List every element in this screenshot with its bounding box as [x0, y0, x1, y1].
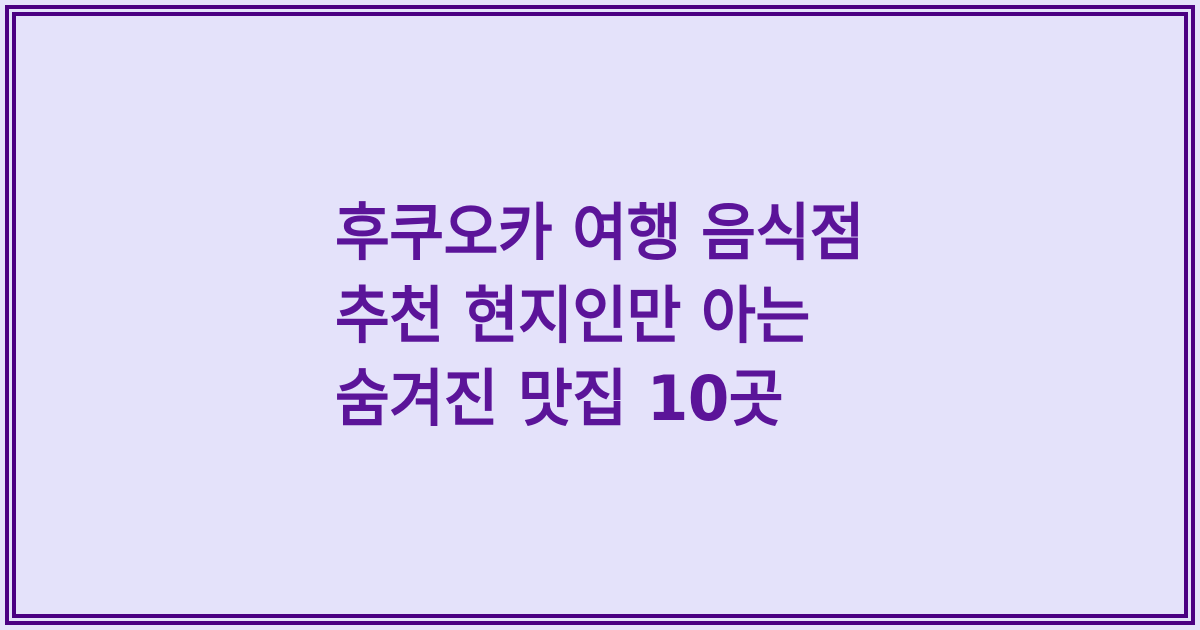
page-title: 후쿠오카 여행 음식점 추천 현지인만 아는 숨겨진 맛집 10곳	[336, 191, 865, 440]
thumbnail-card: 후쿠오카 여행 음식점 추천 현지인만 아는 숨겨진 맛집 10곳	[0, 0, 1200, 630]
title-block: 후쿠오카 여행 음식점 추천 현지인만 아는 숨겨진 맛집 10곳	[0, 0, 1200, 630]
